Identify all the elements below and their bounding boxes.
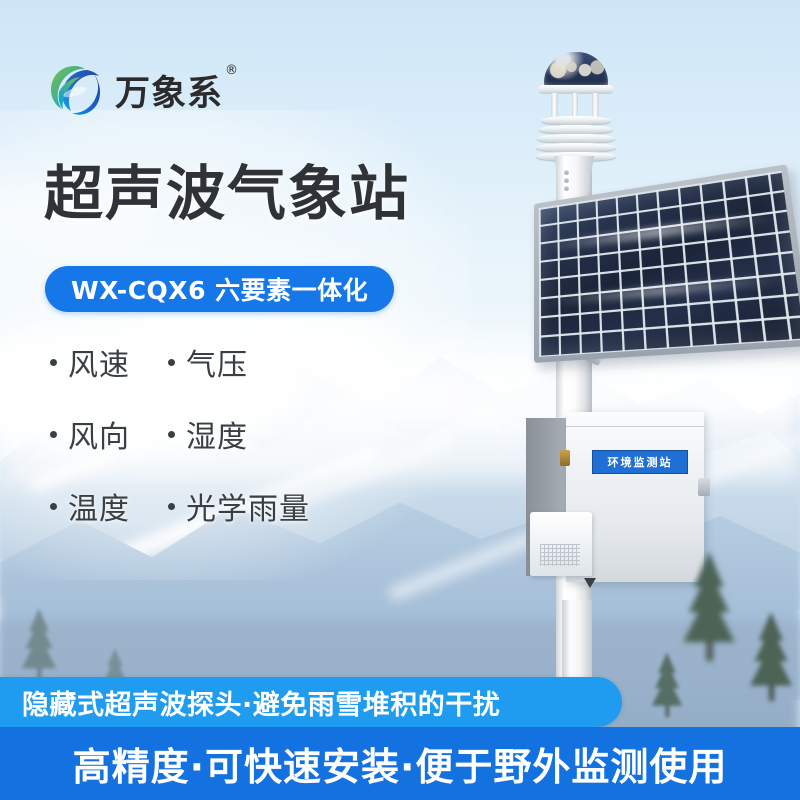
trademark-symbol: ® — [225, 63, 239, 78]
feature-item: 湿度 — [168, 412, 310, 456]
solar-cell-grid — [539, 171, 800, 357]
cabinet-door-seam — [566, 426, 704, 427]
cabinet-lock — [698, 478, 710, 496]
bullet-icon — [50, 503, 57, 510]
collar-port — [564, 178, 569, 183]
pine-tree — [652, 652, 682, 717]
feature-item: 光学雨量 — [168, 484, 310, 528]
cabinet-nameplate-text: 环境监测站 — [608, 454, 673, 470]
feature-label: 气压 — [186, 340, 248, 384]
solar-panel-assembly — [534, 204, 784, 384]
vent-grill — [540, 544, 580, 566]
pine-tree — [683, 552, 734, 661]
bullet-icon — [168, 431, 175, 438]
feature-list: 风速 气压 风向 湿度 温度 光学雨量 — [50, 340, 310, 528]
feature-banner: 隐藏式超声波探头·避免雨雪堆积的干扰 — [0, 677, 622, 727]
feature-label: 风向 — [68, 412, 130, 456]
radiation-shield — [536, 116, 616, 163]
feature-label: 温度 — [68, 484, 130, 528]
bullet-icon — [50, 359, 57, 366]
feature-item: 温度 — [50, 484, 168, 528]
ultrasonic-sensor-head — [520, 52, 630, 202]
control-cabinet: 环境监测站 — [526, 412, 704, 594]
bullet-icon — [168, 503, 175, 510]
feature-item: 风速 — [50, 340, 168, 384]
feature-item: 气压 — [168, 340, 310, 384]
cabinet-mount-foot — [584, 578, 596, 588]
tagline-banner-text: 高精度·可快速安装·便于野外监测使用 — [73, 736, 728, 791]
cabinet-vent-box — [530, 512, 592, 576]
pine-tree — [750, 612, 792, 701]
optical-rain-dome-icon — [544, 52, 608, 88]
feature-label: 光学雨量 — [186, 484, 310, 528]
brand-name-text: 万象系 — [115, 74, 223, 114]
collar-port — [564, 186, 569, 191]
feature-label: 湿度 — [186, 412, 248, 456]
page-title: 超声波气象站 — [44, 163, 410, 225]
brand-name: 万象系 ® — [115, 65, 223, 116]
model-badge-text: WX-CQX6 六要素一体化 — [71, 271, 368, 307]
feature-label: 风速 — [68, 340, 130, 384]
collar-port — [564, 170, 569, 175]
model-badge: WX-CQX6 六要素一体化 — [45, 266, 394, 312]
sensor-collar — [554, 156, 594, 200]
globe-swirl-icon — [47, 62, 103, 118]
cabinet-latch — [560, 450, 570, 466]
tagline-banner: 高精度·可快速安装·便于野外监测使用 — [0, 727, 800, 800]
cabinet-nameplate: 环境监测站 — [592, 450, 688, 474]
bullet-icon — [50, 431, 57, 438]
product-poster: 环境监测站 — [0, 0, 800, 800]
feature-item: 风向 — [50, 412, 168, 456]
bullet-icon — [168, 359, 175, 366]
feature-banner-text: 隐藏式超声波探头·避免雨雪堆积的干扰 — [0, 683, 500, 722]
brand-logo: 万象系 ® — [47, 62, 223, 118]
